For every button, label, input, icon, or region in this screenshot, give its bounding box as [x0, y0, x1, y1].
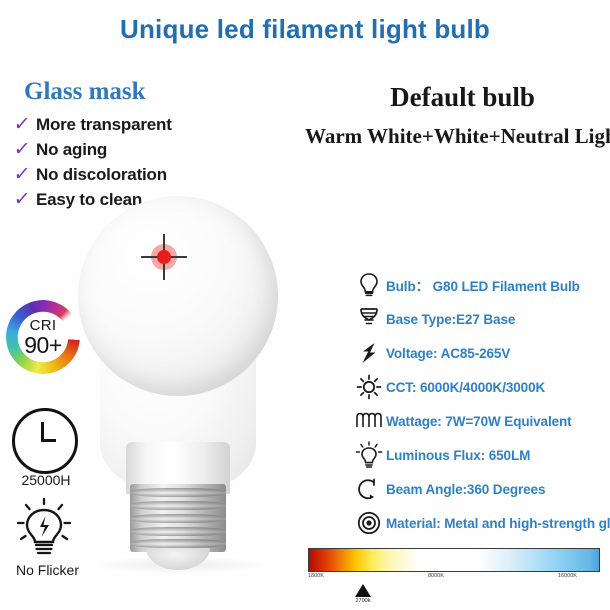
specification-list: Bulb： G80 LED Filament Bulb Base Type:E2…: [352, 268, 610, 540]
clock-icon: [12, 408, 78, 474]
cct-tick-left: 1800K: [308, 573, 324, 579]
list-item: ✓ No aging: [14, 137, 254, 162]
cct-scale: 1800K 8000K 16000K 2700k: [308, 548, 600, 584]
default-bulb-heading: Default bulb: [315, 82, 610, 113]
list-item: Voltage: AC85-265V: [352, 336, 610, 370]
target-circle-icon: [352, 511, 386, 535]
lightning-bolt-icon: [352, 341, 386, 365]
feature-label: More transparent: [36, 115, 172, 135]
shining-bulb-icon: [352, 441, 386, 469]
product-infographic: Unique led filament light bulb Glass mas…: [0, 0, 610, 610]
page-title: Unique led filament light bulb: [0, 14, 610, 45]
triangle-marker-icon: [355, 584, 371, 597]
cct-marker: 2700k: [343, 584, 383, 604]
bulb-outline-icon: [352, 272, 386, 298]
glass-mask-heading: Glass mask: [24, 78, 146, 106]
cct-tick-mid: 8000K: [428, 573, 444, 579]
bulb-globe: [78, 196, 278, 396]
bulb-flicker-icon: [16, 496, 72, 558]
spec-text: Voltage: AC85-265V: [386, 346, 510, 361]
sun-icon: [352, 374, 386, 400]
lifetime-label: 25000H: [6, 472, 86, 488]
spec-text: Bulb： G80 LED Filament Bulb: [386, 275, 580, 295]
list-item: ✓ More transparent: [14, 112, 254, 137]
spec-text: Base Type:E27 Base: [386, 312, 515, 327]
spec-text: Luminous Flux: 650LM: [386, 448, 530, 463]
default-bulb-subheading: Warm White+White+Neutral Ligh: [305, 124, 610, 149]
list-item: Wattage: 7W=70W Equivalent: [352, 404, 610, 438]
screw-base-icon: [352, 306, 386, 332]
spec-text: Material: Metal and high-strength glass: [386, 516, 610, 531]
cri-label: CRI: [30, 318, 57, 333]
check-icon: ✓: [13, 190, 37, 209]
cct-marker-label: 2700k: [343, 598, 383, 604]
cri-value: 90+: [24, 333, 62, 357]
check-icon: ✓: [13, 165, 37, 184]
feature-label: No discoloration: [36, 165, 167, 185]
beam-arc-icon: [352, 477, 386, 501]
list-item: CCT: 6000K/4000K/3000K: [352, 370, 610, 404]
cri-ring-icon: CRI 90+: [6, 300, 80, 374]
list-item: ✓ No discoloration: [14, 162, 254, 187]
bulb-illustration: [78, 196, 293, 566]
list-item: Material: Metal and high-strength glass: [352, 506, 610, 540]
cct-gradient-bar: [308, 548, 600, 572]
list-item: Luminous Flux: 650LM: [352, 438, 610, 472]
feature-label: No aging: [36, 140, 107, 160]
bulb-screw-base: [130, 484, 226, 552]
check-icon: ✓: [13, 140, 37, 159]
list-item: Base Type:E27 Base: [352, 302, 610, 336]
spec-text: CCT: 6000K/4000K/3000K: [386, 380, 545, 395]
list-item: Beam Angle:360 Degrees: [352, 472, 610, 506]
flicker-label: No Flicker: [0, 562, 95, 578]
spec-text: Wattage: 7W=70W Equivalent: [386, 414, 572, 429]
filament-coil-icon: [352, 412, 386, 430]
cct-tick-labels: 1800K 8000K 16000K: [308, 572, 600, 584]
check-icon: ✓: [13, 115, 37, 134]
list-item: Bulb： G80 LED Filament Bulb: [352, 268, 610, 302]
cct-tick-right: 16000K: [558, 573, 577, 579]
spec-text: Beam Angle:360 Degrees: [386, 482, 545, 497]
